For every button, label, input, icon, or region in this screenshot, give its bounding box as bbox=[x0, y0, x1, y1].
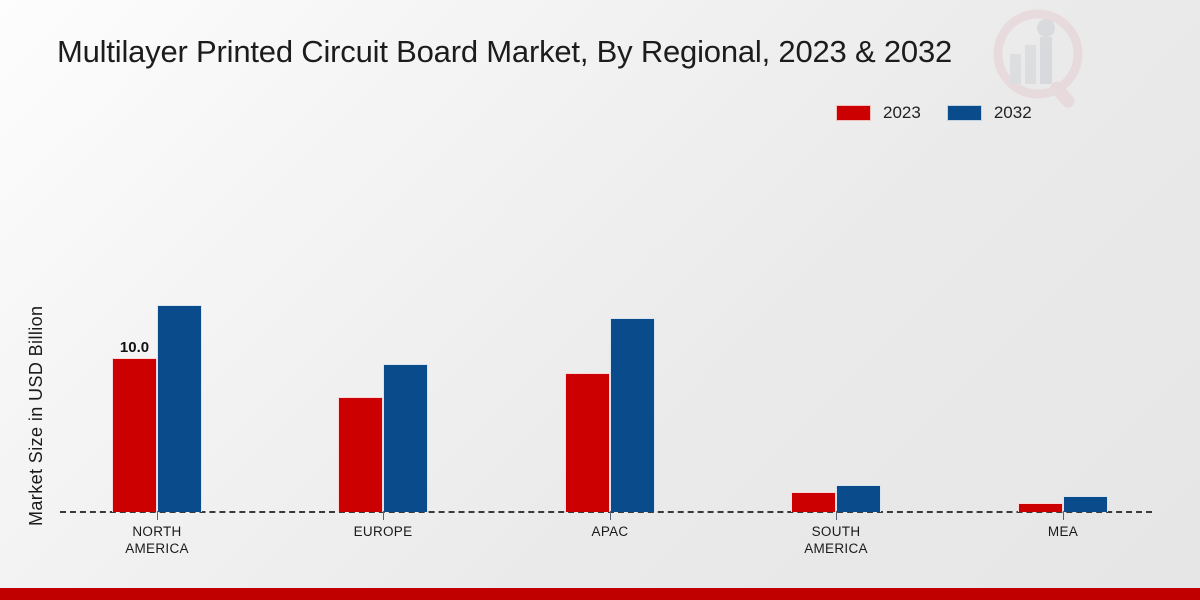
label-line-2: AMERICA bbox=[746, 540, 926, 557]
footer-band bbox=[0, 588, 1200, 600]
bar-2032-europe[interactable] bbox=[383, 364, 428, 512]
label-line-2: AMERICA bbox=[67, 540, 247, 557]
label-line-1: APAC bbox=[520, 523, 700, 540]
bar-2023-europe[interactable] bbox=[338, 397, 383, 512]
label-line-1: MEA bbox=[973, 523, 1153, 540]
x-axis-label-europe: EUROPE bbox=[293, 523, 473, 540]
watermark-logo bbox=[986, 4, 1096, 114]
x-axis-tick-south-america bbox=[836, 511, 837, 520]
bar-group-apac bbox=[565, 140, 655, 512]
bar-group-north-america: 10.0 bbox=[112, 140, 202, 512]
legend-swatch-2023 bbox=[836, 105, 871, 121]
bar-2023-apac[interactable] bbox=[565, 373, 610, 512]
legend-label-2032: 2032 bbox=[994, 103, 1032, 123]
y-axis-title: Market Size in USD Billion bbox=[26, 196, 47, 526]
x-axis-label-south-america: SOUTH AMERICA bbox=[746, 523, 926, 557]
bar-group-europe bbox=[338, 140, 428, 512]
x-axis-tick-mea bbox=[1063, 511, 1064, 520]
chart-legend: 2023 2032 bbox=[836, 103, 1032, 123]
x-axis-label-apac: APAC bbox=[520, 523, 700, 540]
legend-item-2032[interactable]: 2032 bbox=[947, 103, 1032, 123]
bar-2032-mea[interactable] bbox=[1063, 496, 1108, 512]
bar-group-south-america bbox=[791, 140, 881, 512]
chart-container: Multilayer Printed Circuit Board Market,… bbox=[0, 0, 1200, 600]
x-axis-tick-europe bbox=[383, 511, 384, 520]
legend-item-2023[interactable]: 2023 bbox=[836, 103, 921, 123]
label-line-1: NORTH bbox=[67, 523, 247, 540]
bar-2032-apac[interactable] bbox=[610, 318, 655, 512]
bar-2032-south-america[interactable] bbox=[836, 485, 881, 512]
x-axis-label-north-america: NORTH AMERICA bbox=[67, 523, 247, 557]
legend-label-2023: 2023 bbox=[883, 103, 921, 123]
chart-title: Multilayer Printed Circuit Board Market,… bbox=[57, 34, 952, 70]
bar-value-label: 10.0 bbox=[120, 339, 149, 356]
x-axis-label-mea: MEA bbox=[973, 523, 1153, 540]
bar-group-mea bbox=[1018, 140, 1108, 512]
legend-swatch-2032 bbox=[947, 105, 982, 121]
bar-2032-north-america[interactable] bbox=[157, 305, 202, 512]
bar-2023-mea[interactable] bbox=[1018, 503, 1063, 512]
label-line-1: EUROPE bbox=[293, 523, 473, 540]
x-axis-tick-apac bbox=[610, 511, 611, 520]
label-line-1: SOUTH bbox=[746, 523, 926, 540]
bar-2023-north-america[interactable]: 10.0 bbox=[112, 358, 157, 512]
bar-2023-south-america[interactable] bbox=[791, 492, 836, 512]
x-axis-tick-north-america bbox=[157, 511, 158, 520]
